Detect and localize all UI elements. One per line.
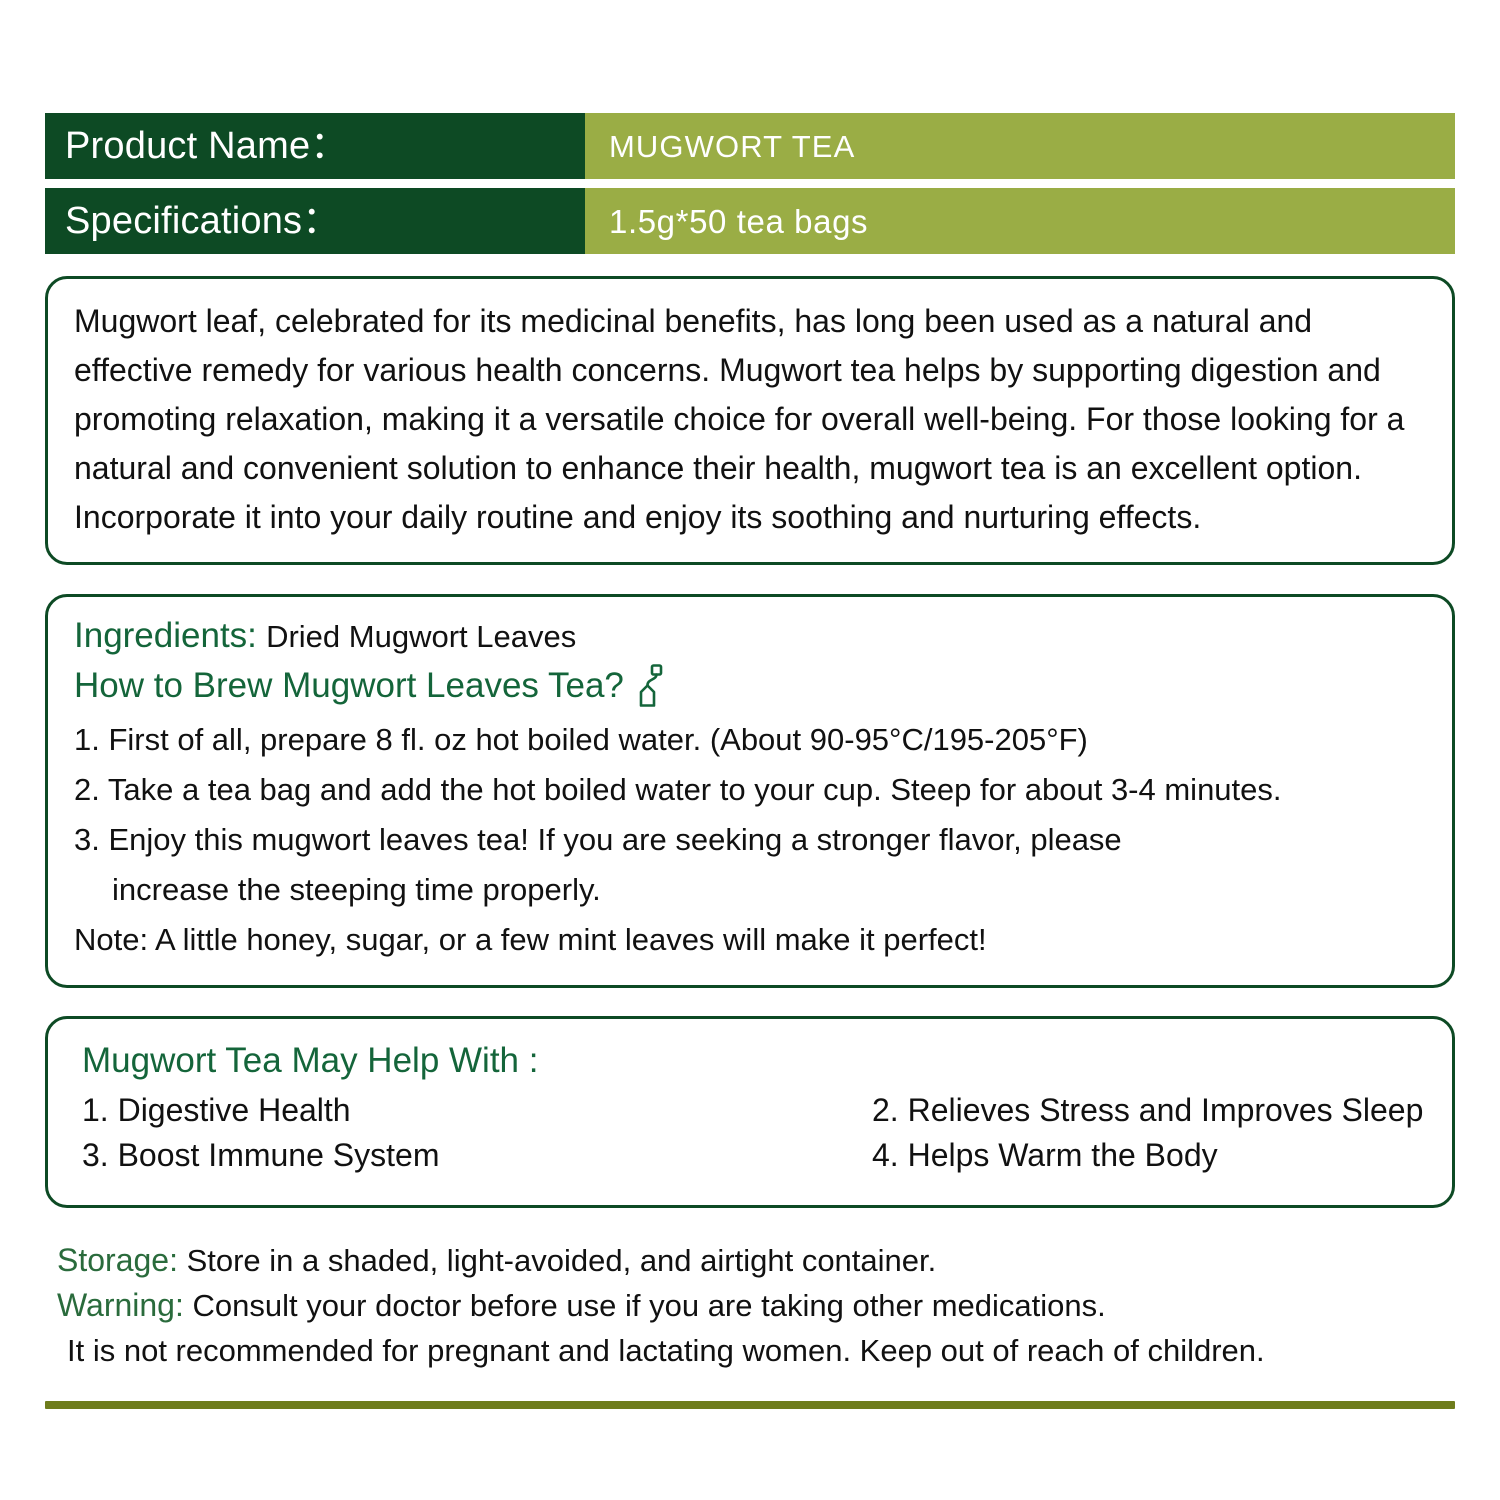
product-info-label: Product Name： MUGWORT TEA Specifications… (0, 0, 1500, 1500)
brewing-step: 2. Take a tea bag and add the hot boiled… (74, 765, 1426, 815)
ingredients-value: Dried Mugwort Leaves (266, 619, 576, 654)
ingredients-label: Ingredients: (74, 616, 257, 655)
tea-bag-icon (638, 664, 664, 708)
brewing-note: Note: A little honey, sugar, or a few mi… (74, 915, 1426, 965)
description-card: Mugwort leaf, celebrated for its medicin… (45, 276, 1455, 565)
spec-value-product-name: MUGWORT TEA (585, 113, 1455, 179)
benefit-item: 2. Relieves Stress and Improves Sleep (864, 1089, 1426, 1134)
spec-row-specifications: Specifications： 1.5g*50 tea bags (45, 188, 1455, 254)
spec-row-product-name: Product Name： MUGWORT TEA (45, 113, 1455, 179)
description-text: Mugwort leaf, celebrated for its medicin… (74, 297, 1426, 542)
footer-notes: Storage: Store in a shaded, light-avoide… (45, 1238, 1455, 1373)
brewing-card: Ingredients: Dried Mugwort Leaves How to… (45, 594, 1455, 988)
warning-continuation: It is not recommended for pregnant and l… (57, 1328, 1455, 1373)
benefit-item: 3. Boost Immune System (74, 1134, 864, 1179)
spec-table: Product Name： MUGWORT TEA Specifications… (45, 0, 1455, 254)
spec-value-specifications: 1.5g*50 tea bags (585, 188, 1455, 254)
how-to-brew-heading: How to Brew Mugwort Leaves Tea? (74, 661, 1426, 711)
benefits-grid: 1. Digestive Health 2. Relieves Stress a… (74, 1089, 1426, 1179)
benefit-item: 1. Digestive Health (74, 1089, 864, 1134)
brewing-step: 3. Enjoy this mugwort leaves tea! If you… (74, 815, 1426, 865)
bottom-divider (45, 1401, 1455, 1409)
benefits-card: Mugwort Tea May Help With : 1. Digestive… (45, 1016, 1455, 1208)
spec-key-specifications: Specifications： (45, 188, 585, 254)
warning-label: Warning: (57, 1287, 184, 1323)
benefits-title: Mugwort Tea May Help With : (74, 1035, 1426, 1087)
spec-key-product-name: Product Name： (45, 113, 585, 179)
brewing-step: 1. First of all, prepare 8 fl. oz hot bo… (74, 715, 1426, 765)
brewing-steps: 1. First of all, prepare 8 fl. oz hot bo… (74, 715, 1426, 965)
benefit-item: 4. Helps Warm the Body (864, 1134, 1426, 1179)
ingredients-line: Ingredients: Dried Mugwort Leaves (74, 612, 1426, 661)
storage-line: Storage: Store in a shaded, light-avoide… (57, 1238, 1455, 1283)
brewing-step-continuation: increase the steeping time properly. (74, 865, 1426, 915)
storage-text: Store in a shaded, light-avoided, and ai… (178, 1243, 936, 1278)
storage-label: Storage: (57, 1242, 178, 1278)
warning-line: Warning: Consult your doctor before use … (57, 1283, 1455, 1328)
warning-text: Consult your doctor before use if you ar… (184, 1288, 1106, 1323)
how-to-brew-title: How to Brew Mugwort Leaves Tea? (74, 661, 624, 711)
